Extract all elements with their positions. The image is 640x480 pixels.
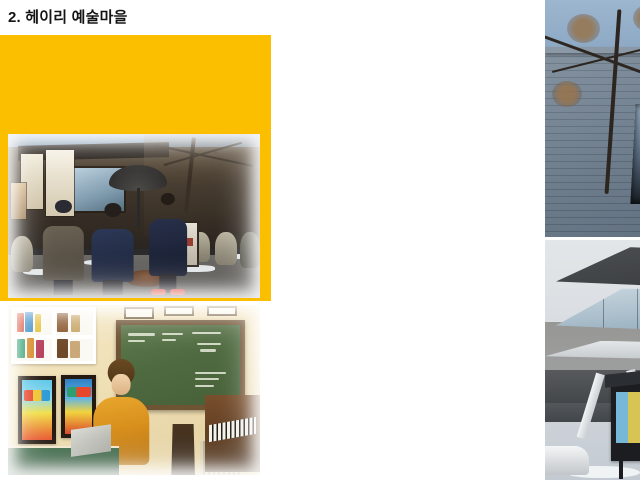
face [112, 374, 131, 395]
garden-statue [240, 232, 260, 268]
wall-frame [124, 307, 154, 319]
wall-poster [11, 183, 26, 219]
board-leg [619, 459, 623, 479]
page-title: 2. 헤이리 예술마을 [8, 6, 266, 32]
poster-title-text [67, 387, 91, 397]
upright-piano [205, 395, 260, 472]
poster-grid [616, 392, 640, 443]
visitor-figure [91, 203, 134, 295]
photo-museum-building [545, 240, 640, 480]
wall-frame [207, 306, 237, 316]
slide-canvas: 2. 헤이리 예술마을 [0, 0, 640, 480]
wall-frame [164, 306, 194, 316]
visitor-figure [149, 193, 187, 295]
photo-classroom-content [8, 305, 260, 475]
parked-car [545, 446, 589, 475]
photo-concrete-facade [545, 0, 640, 237]
exhibition-notice-board[interactable] [611, 379, 640, 461]
photo-facade-content [545, 0, 640, 237]
right-photo-column [272, 0, 640, 480]
photo-museum-content [545, 240, 640, 480]
piano-keys [209, 417, 256, 442]
garden-statue [215, 232, 238, 265]
dry-leaf-cluster [552, 81, 581, 107]
poster-summer-vacation [18, 376, 56, 444]
visitor-figure [43, 200, 83, 295]
photo-classroom [8, 305, 260, 475]
concrete-wall [545, 50, 640, 237]
photo-street-scene [8, 134, 260, 298]
poster-title-text [24, 390, 50, 401]
bookshelf [11, 307, 97, 365]
left-photo-column: 2. 헤이리 예술마을 [0, 0, 272, 480]
photo-street-content [8, 134, 260, 298]
garden-statue [11, 236, 34, 272]
dry-leaf-cluster [567, 14, 600, 42]
